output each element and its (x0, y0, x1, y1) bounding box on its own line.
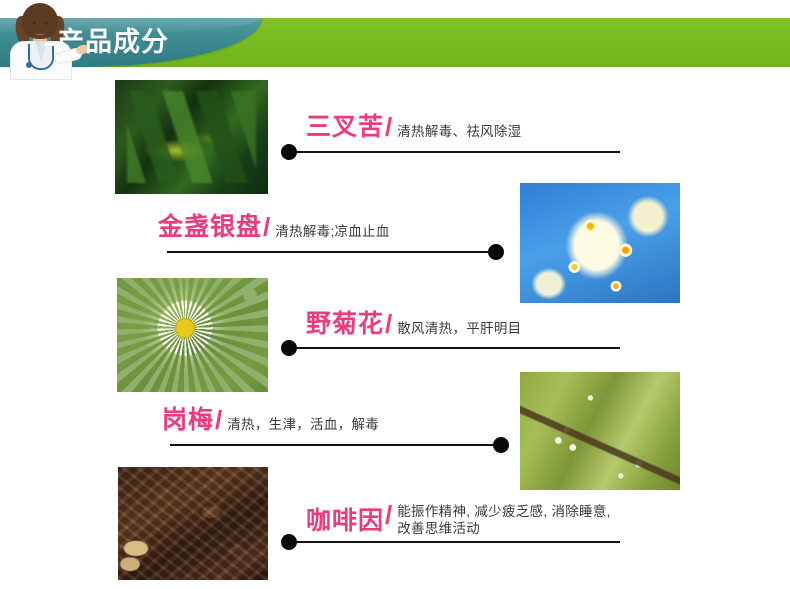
ingredient-photo-coffee (118, 467, 268, 580)
ingredient-description-1: 清热解毒、祛风除湿 (397, 124, 521, 139)
connector-line-1 (295, 151, 620, 153)
ingredient-photo-chrysanthemum (117, 278, 268, 392)
product-ingredients-page: 产品成分 三叉苦/清热解毒、祛风除湿 金盏银盘/清热解毒;凉血止血 野菊花/散风… (0, 0, 790, 589)
connector-line-5 (295, 541, 620, 543)
connector-line-3 (295, 347, 620, 349)
ingredient-photo-sanchaku (115, 80, 268, 194)
ingredient-text-1: 三叉苦/清热解毒、祛风除湿 (306, 107, 521, 143)
ingredient-photo-narcissus (520, 183, 680, 303)
connector-line-2 (167, 251, 492, 253)
ingredient-separator-4: / (214, 405, 227, 435)
ingredient-description-4: 清热，生津，活血，解毒 (227, 417, 379, 432)
ingredient-text-4: 岗梅/清热，生津，活血，解毒 (162, 400, 379, 436)
ingredient-separator-1: / (384, 112, 397, 142)
ingredient-description-3: 散风清热，平肝明目 (397, 321, 521, 336)
ingredient-name-5: 咖啡因 (306, 507, 384, 535)
ingredient-name-1: 三叉苦 (306, 113, 384, 141)
ingredient-name-2: 金盏银盘 (158, 213, 262, 241)
ingredient-description-2: 清热解毒;凉血止血 (275, 224, 389, 239)
ingredient-text-3: 野菊花/散风清热，平肝明目 (306, 304, 521, 340)
ingredient-separator-2: / (262, 212, 275, 242)
ingredient-text-5: 咖啡因/能振作精神, 减少疲乏感, 消除睡意, 改善思维活动 (306, 500, 627, 537)
ingredient-description-5: 能振作精神, 减少疲乏感, 消除睡意, 改善思维活动 (397, 503, 627, 537)
connector-line-4 (170, 444, 497, 446)
ingredient-name-4: 岗梅 (162, 406, 214, 434)
ingredient-text-2: 金盏银盘/清热解毒;凉血止血 (158, 207, 390, 243)
page-header: 产品成分 (0, 0, 790, 80)
page-title: 产品成分 (57, 22, 169, 62)
ingredient-name-3: 野菊花 (306, 310, 384, 338)
ingredient-photo-gangmei (520, 372, 680, 490)
ingredient-separator-5: / (384, 500, 397, 530)
ingredient-separator-3: / (384, 309, 397, 339)
